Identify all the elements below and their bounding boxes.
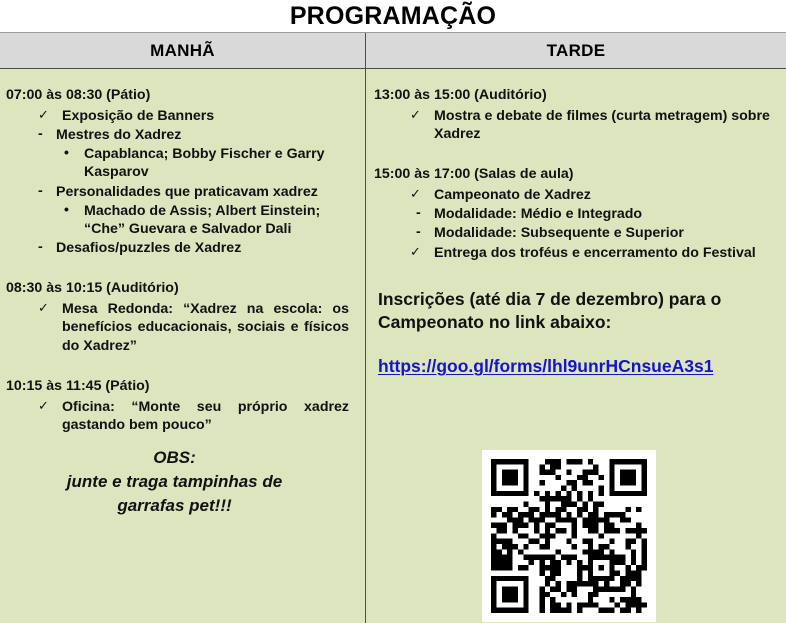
column-header-morning: MANHÃ — [0, 33, 366, 68]
morning-block3-list: ✓ Oficina: “Monte seu próprio xadrez gas… — [6, 398, 351, 434]
list-item: - Desafios/puzzles de Xadrez — [38, 239, 351, 257]
list-item: ✓ Mostra e debate de filmes (curta metra… — [374, 107, 774, 143]
morning-block3-item1: Oficina: “Monte seu próprio xadrez gasta… — [62, 399, 349, 433]
dash-icon: - — [38, 182, 43, 200]
list-item: • Machado de Assis; Albert Einstein; “Ch… — [50, 202, 351, 238]
check-icon: ✓ — [410, 186, 421, 203]
obs-line1: junte e traga tampinhas de — [6, 470, 343, 494]
check-icon: ✓ — [38, 300, 49, 317]
morning-block2-item1: Mesa Redonda: “Xadrez na escola: os bene… — [62, 301, 349, 353]
page-title-row: PROGRAMAÇÃO — [0, 0, 786, 33]
dash-icon: - — [416, 204, 421, 222]
dash-icon: - — [416, 223, 421, 241]
morning-block1-sublist-2: - Personalidades que praticavam xadrez — [6, 183, 351, 201]
morning-block1-detail-2: • Machado de Assis; Albert Einstein; “Ch… — [6, 202, 351, 238]
dash-icon: - — [38, 125, 43, 143]
afternoon-block2-list: ✓ Campeonato de Xadrez — [374, 186, 774, 204]
registration-line2: Campeonato no link abaixo: — [378, 311, 774, 334]
obs-note: OBS: junte e traga tampinhas de garrafas… — [6, 446, 351, 518]
list-item: • Capablanca; Bobby Fischer e Garry Kasp… — [50, 145, 351, 181]
morning-block1-sub2-detail: Machado de Assis; Albert Einstein; “Che”… — [84, 203, 320, 237]
morning-block1-list: ✓ Exposição de Banners — [6, 107, 351, 125]
registration-note: Inscrições (até dia 7 de dezembro) para … — [374, 288, 774, 335]
morning-block1-sub2: Personalidades que praticavam xadrez — [56, 184, 318, 200]
spacer — [374, 144, 774, 166]
programacao-table: PROGRAMAÇÃO MANHÃ TARDE 07:00 às 08:30 (… — [0, 0, 786, 623]
qr-code[interactable] — [482, 450, 656, 622]
morning-block1-sub1-detail: Capablanca; Bobby Fischer e Garry Kaspar… — [84, 146, 324, 180]
list-item: - Modalidade: Médio e Integrado — [416, 205, 774, 223]
morning-block1-sublist-1: - Mestres do Xadrez — [6, 126, 351, 144]
morning-block1-sublist-3: - Desafios/puzzles de Xadrez — [6, 239, 351, 257]
check-icon: ✓ — [410, 244, 421, 261]
spacer — [6, 258, 351, 280]
morning-block2-list: ✓ Mesa Redonda: “Xadrez na escola: os be… — [6, 300, 351, 355]
page-title: PROGRAMAÇÃO — [290, 4, 496, 29]
column-header-morning-label: MANHÃ — [150, 41, 215, 61]
afternoon-block2-sublist: - Modalidade: Médio e Integrado - Modali… — [374, 205, 774, 242]
afternoon-block2-item2: Entrega dos troféus e encerramento do Fe… — [434, 245, 756, 261]
list-item: - Personalidades que praticavam xadrez — [38, 183, 351, 201]
check-icon: ✓ — [410, 107, 421, 124]
morning-block1-sub3: Desafios/puzzles de Xadrez — [56, 240, 241, 256]
morning-block3-time: 10:15 às 11:45 (Pátio) — [6, 378, 351, 396]
qr-code-canvas[interactable] — [491, 459, 647, 613]
morning-block1-detail-1: • Capablanca; Bobby Fischer e Garry Kasp… — [6, 145, 351, 181]
bullet-icon: • — [64, 144, 69, 162]
dash-icon: - — [38, 238, 43, 256]
morning-block2-time: 08:30 às 10:15 (Auditório) — [6, 280, 351, 298]
list-item: ✓ Oficina: “Monte seu próprio xadrez gas… — [6, 398, 351, 434]
column-header-afternoon: TARDE — [366, 33, 786, 68]
afternoon-block2-item1: Campeonato de Xadrez — [434, 187, 591, 203]
list-item: ✓ Entrega dos troféus e encerramento do … — [374, 244, 774, 262]
registration-line1: Inscrições (até dia 7 de dezembro) para … — [378, 288, 774, 311]
afternoon-block2-time: 15:00 às 17:00 (Salas de aula) — [374, 166, 774, 184]
list-item: ✓ Mesa Redonda: “Xadrez na escola: os be… — [6, 300, 351, 355]
spacer — [6, 356, 351, 378]
column-header-row: MANHÃ TARDE — [0, 33, 786, 69]
schedule-body: 07:00 às 08:30 (Pátio) ✓ Exposição de Ba… — [0, 69, 786, 623]
column-header-afternoon-label: TARDE — [547, 41, 606, 61]
morning-column: 07:00 às 08:30 (Pátio) ✓ Exposição de Ba… — [0, 69, 366, 623]
morning-block1-time: 07:00 às 08:30 (Pátio) — [6, 87, 351, 105]
obs-title: OBS: — [6, 446, 343, 470]
afternoon-block2-sub2: Modalidade: Subsequente e Superior — [434, 225, 684, 241]
check-icon: ✓ — [38, 107, 49, 124]
list-item: ✓ Exposição de Banners — [6, 107, 351, 125]
afternoon-column: 13:00 às 15:00 (Auditório) ✓ Mostra e de… — [366, 69, 786, 623]
afternoon-block2-sub1: Modalidade: Médio e Integrado — [434, 206, 642, 222]
check-icon: ✓ — [38, 398, 49, 415]
bullet-icon: • — [64, 201, 69, 219]
afternoon-block1-list: ✓ Mostra e debate de filmes (curta metra… — [374, 107, 774, 143]
morning-block1-item1: Exposição de Banners — [62, 108, 214, 124]
morning-block1-sub1: Mestres do Xadrez — [56, 127, 181, 143]
obs-line2: garrafas pet!!! — [6, 494, 343, 518]
list-item: ✓ Campeonato de Xadrez — [374, 186, 774, 204]
list-item: - Mestres do Xadrez — [38, 126, 351, 144]
registration-link[interactable]: https://goo.gl/forms/lhl9unrHCnsueA3s1 — [374, 356, 774, 377]
afternoon-block1-item1: Mostra e debate de filmes (curta metrage… — [434, 108, 770, 142]
afternoon-block1-time: 13:00 às 15:00 (Auditório) — [374, 87, 774, 105]
afternoon-block2-list-2: ✓ Entrega dos troféus e encerramento do … — [374, 244, 774, 262]
list-item: - Modalidade: Subsequente e Superior — [416, 224, 774, 242]
